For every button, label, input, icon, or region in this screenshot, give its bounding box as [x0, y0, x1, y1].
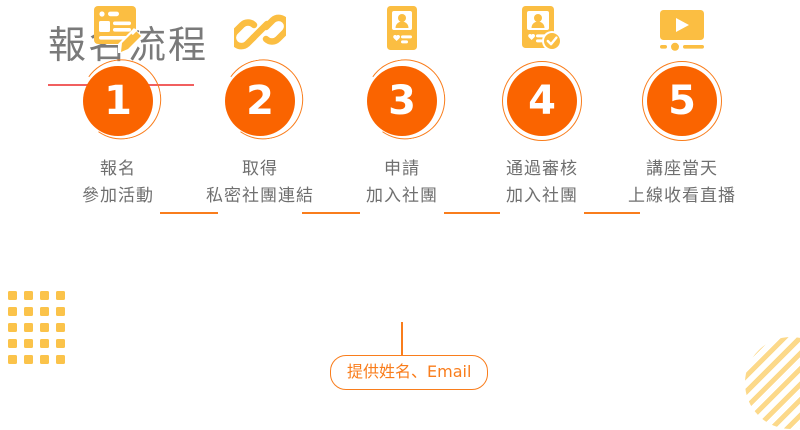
dot	[24, 291, 33, 300]
dot	[40, 339, 49, 348]
step-1-label-line2: 參加活動	[47, 183, 189, 210]
dot	[8, 323, 17, 332]
step-5-badge[interactable]: 5	[647, 66, 717, 136]
step-3-circle[interactable]: 3	[331, 60, 473, 142]
step-5-label-line2: 上線收看直播	[611, 183, 753, 210]
step-4-badge[interactable]: 4	[507, 66, 577, 136]
striped-circle-decoration	[745, 337, 800, 429]
step-1-label: 報名 參加活動	[47, 156, 189, 210]
step-2-label-line2: 私密社團連結	[189, 183, 331, 210]
form-pencil-icon	[47, 0, 189, 60]
dot	[40, 307, 49, 316]
dot	[56, 323, 65, 332]
step-5[interactable]: 5 講座當天 上線收看直播	[611, 0, 753, 210]
connector-3-4	[444, 212, 500, 214]
chain-link-icon	[189, 0, 331, 60]
step-4-circle[interactable]: 4	[471, 60, 613, 142]
step-2-circle[interactable]: 2	[189, 60, 331, 142]
step-3[interactable]: 3 申請 加入社團	[331, 0, 473, 210]
step-1-circle[interactable]: 1	[47, 60, 189, 142]
callout-badge: 提供姓名、Email	[330, 355, 488, 390]
step-5-label-line1: 講座當天	[611, 156, 753, 183]
step-4[interactable]: 4 通過審核 加入社團	[471, 0, 613, 210]
step-3-label-line1: 申請	[331, 156, 473, 183]
step-1-label-line1: 報名	[47, 156, 189, 183]
dot	[24, 355, 33, 364]
video-player-icon	[611, 0, 753, 60]
step-2-label-line1: 取得	[189, 156, 331, 183]
step-4-label-line2: 加入社團	[471, 183, 613, 210]
step-2[interactable]: 2 取得 私密社團連結	[189, 0, 331, 210]
dot	[8, 355, 17, 364]
connector-2-3	[302, 212, 360, 214]
dot	[8, 339, 17, 348]
infographic-canvas: 報名流程	[0, 0, 800, 430]
dot	[40, 355, 49, 364]
step-3-number: 3	[388, 81, 416, 121]
dot	[24, 307, 33, 316]
step-5-label: 講座當天 上線收看直播	[611, 156, 753, 210]
step-2-number: 2	[246, 81, 274, 121]
dot	[56, 339, 65, 348]
dot	[40, 291, 49, 300]
connector-4-5	[584, 212, 640, 214]
profile-card-icon	[331, 0, 473, 60]
step-3-label: 申請 加入社團	[331, 156, 473, 210]
dot	[56, 355, 65, 364]
dot	[8, 291, 17, 300]
step-2-label: 取得 私密社團連結	[189, 156, 331, 210]
step-5-number: 5	[668, 81, 696, 121]
dot	[56, 291, 65, 300]
dot	[56, 307, 65, 316]
profile-card-check-icon	[471, 0, 613, 60]
dot-grid-decoration	[8, 291, 65, 364]
step-1-badge[interactable]: 1	[83, 66, 153, 136]
step-5-circle[interactable]: 5	[611, 60, 753, 142]
step-4-number: 4	[528, 81, 556, 121]
step-2-badge[interactable]: 2	[225, 66, 295, 136]
step-3-label-line2: 加入社團	[331, 183, 473, 210]
dot	[8, 307, 17, 316]
step-4-label-line1: 通過審核	[471, 156, 613, 183]
step-1-number: 1	[104, 81, 132, 121]
dot	[24, 339, 33, 348]
step-3-badge[interactable]: 3	[367, 66, 437, 136]
dot	[40, 323, 49, 332]
step-4-label: 通過審核 加入社團	[471, 156, 613, 210]
connector-1-2	[160, 212, 218, 214]
callout-connector-line	[401, 322, 403, 355]
step-1[interactable]: 1 報名 參加活動	[47, 0, 189, 210]
dot	[24, 323, 33, 332]
